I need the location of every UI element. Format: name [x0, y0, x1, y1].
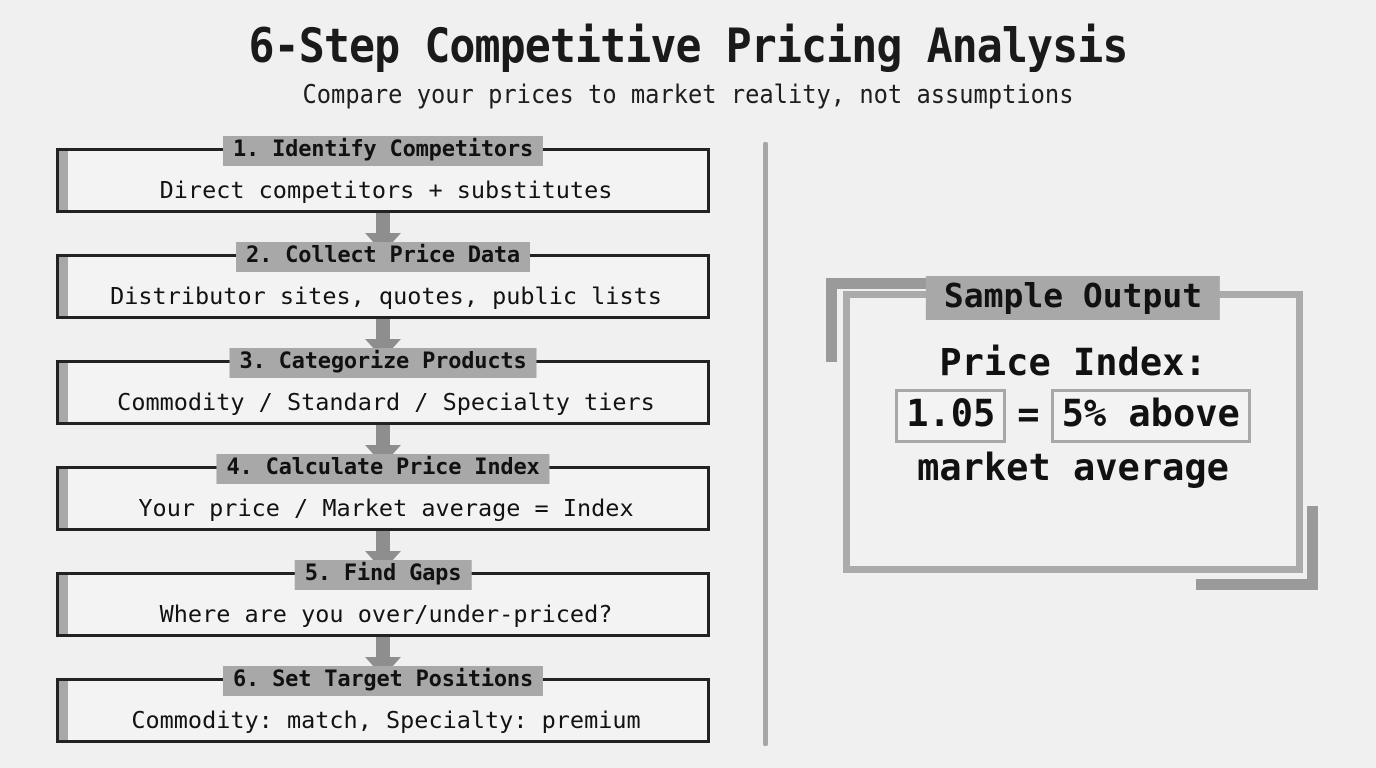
page-subtitle: Compare your prices to market reality, n…: [48, 73, 1328, 110]
step-accent-bar: [59, 681, 68, 740]
step-description: Commodity: match, Specialty: premium: [71, 708, 701, 734]
step-label: 3. Categorize Products: [230, 348, 537, 378]
step-box-1[interactable]: 1. Identify Competitors Direct competito…: [56, 148, 710, 213]
page-title: 6-Step Competitive Pricing Analysis: [55, 0, 1321, 73]
price-index-interpretation: 5% above: [1051, 389, 1251, 443]
price-index-row: 1.05 = 5% above: [850, 389, 1296, 443]
step-description: Distributor sites, quotes, public lists: [71, 284, 701, 310]
market-average-label: market average: [850, 447, 1296, 490]
panel-body: Price Index: 1.05 = 5% above market aver…: [850, 342, 1296, 490]
step-box-6[interactable]: 6. Set Target Positions Commodity: match…: [56, 678, 710, 743]
header: 6-Step Competitive Pricing Analysis Comp…: [0, 0, 1376, 110]
price-index-value: 1.05: [895, 389, 1006, 443]
section-divider: [763, 142, 768, 746]
step-accent-bar: [59, 363, 68, 422]
step-label: 2. Collect Price Data: [236, 242, 530, 272]
panel-title-badge: Sample Output: [926, 276, 1220, 320]
step-accent-bar: [59, 575, 68, 634]
step-box-3[interactable]: 3. Categorize Products Commodity / Stand…: [56, 360, 710, 425]
price-index-heading: Price Index:: [850, 342, 1296, 385]
step-accent-bar: [59, 469, 68, 528]
sample-output-panel: Sample Output Price Index: 1.05 = 5% abo…: [826, 278, 1318, 590]
panel-frame: Sample Output Price Index: 1.05 = 5% abo…: [843, 291, 1303, 573]
step-description: Direct competitors + substitutes: [71, 178, 701, 204]
equals-sign: =: [1017, 394, 1039, 437]
step-label: 6. Set Target Positions: [223, 666, 543, 696]
process-flow: 1. Identify Competitors Direct competito…: [56, 148, 710, 743]
step-accent-bar: [59, 257, 68, 316]
step-description: Your price / Market average = Index: [71, 496, 701, 522]
step-description: Where are you over/under-priced?: [71, 602, 701, 628]
step-accent-bar: [59, 151, 68, 210]
step-label: 1. Identify Competitors: [223, 136, 543, 166]
step-box-2[interactable]: 2. Collect Price Data Distributor sites,…: [56, 254, 710, 319]
step-box-5[interactable]: 5. Find Gaps Where are you over/under-pr…: [56, 572, 710, 637]
step-label: 5. Find Gaps: [295, 560, 472, 590]
step-label: 4. Calculate Price Index: [216, 454, 549, 484]
step-description: Commodity / Standard / Specialty tiers: [71, 390, 701, 416]
step-box-4[interactable]: 4. Calculate Price Index Your price / Ma…: [56, 466, 710, 531]
